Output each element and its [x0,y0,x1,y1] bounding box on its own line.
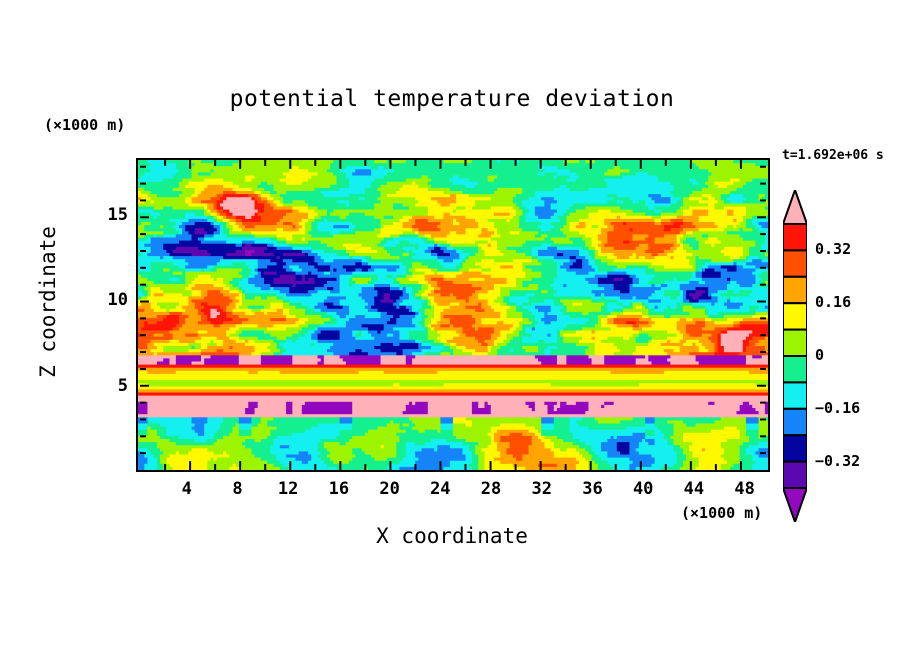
x-tick-label: 40 [623,479,663,499]
x-tick-label: 8 [217,479,257,499]
x-tick-label: 24 [420,479,460,499]
x-tick-label: 20 [370,479,410,499]
x-tick-label: 48 [725,479,765,499]
x-tick-label: 44 [674,479,714,499]
y-tick-label: 15 [88,205,128,225]
x-tick-label: 28 [471,479,511,499]
y-tick-label: 5 [88,376,128,396]
colorbar-tick-label: 0 [815,346,824,364]
x-tick-label: 32 [522,479,562,499]
x-tick-label: 16 [319,479,359,499]
time-label: t=1.692e+06 s [782,148,884,163]
colorbar-tick-label: −0.16 [815,399,860,417]
x-tick-label: 12 [268,479,308,499]
y-axis-title: Z coordinate [36,192,60,412]
contour-plot-area [136,158,770,472]
z-units-label: (×1000 m) [44,116,125,134]
colorbar-tick-label: 0.32 [815,240,851,258]
colorbar-tick-label: −0.32 [815,452,860,470]
colorbar-tick-label: 0.16 [815,293,851,311]
x-tick-label: 4 [167,479,207,499]
x-units-label: (×1000 m) [681,504,762,522]
colorbar [783,190,807,522]
x-axis-title: X coordinate [0,524,904,548]
plot-title: potential temperature deviation [0,86,904,112]
contour-field [138,160,768,470]
x-tick-label: 36 [572,479,612,499]
y-tick-label: 10 [88,290,128,310]
